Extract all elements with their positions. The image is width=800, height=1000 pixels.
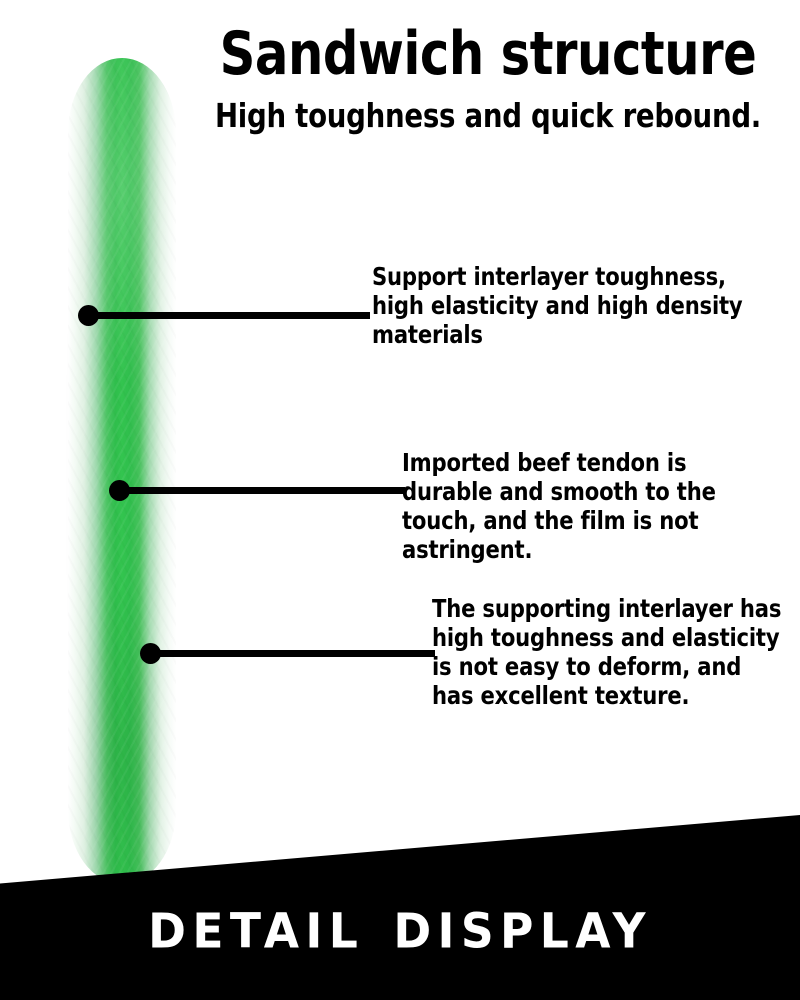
board-surface-texture (68, 58, 176, 884)
page-title: Sandwich structure (203, 18, 773, 90)
page-subtitle: High toughness and quick rebound. (200, 96, 777, 136)
leader-stem-3 (150, 650, 435, 657)
callout-text-2: Imported beef tendon is durable and smoo… (402, 448, 778, 564)
callout-text-3: The supporting interlayer has high tough… (432, 594, 785, 710)
leader-stem-2 (119, 487, 405, 494)
board-cross-section (68, 58, 176, 884)
bottom-banner-title: Detail display (0, 886, 800, 962)
callout-text-1: Support interlayer toughness, high elast… (372, 262, 767, 349)
leader-stem-1 (88, 312, 370, 319)
infographic-page: Sandwich structure High toughness and qu… (0, 0, 800, 1000)
board-top-mask (36, 10, 152, 50)
product-illustration (40, 50, 200, 890)
